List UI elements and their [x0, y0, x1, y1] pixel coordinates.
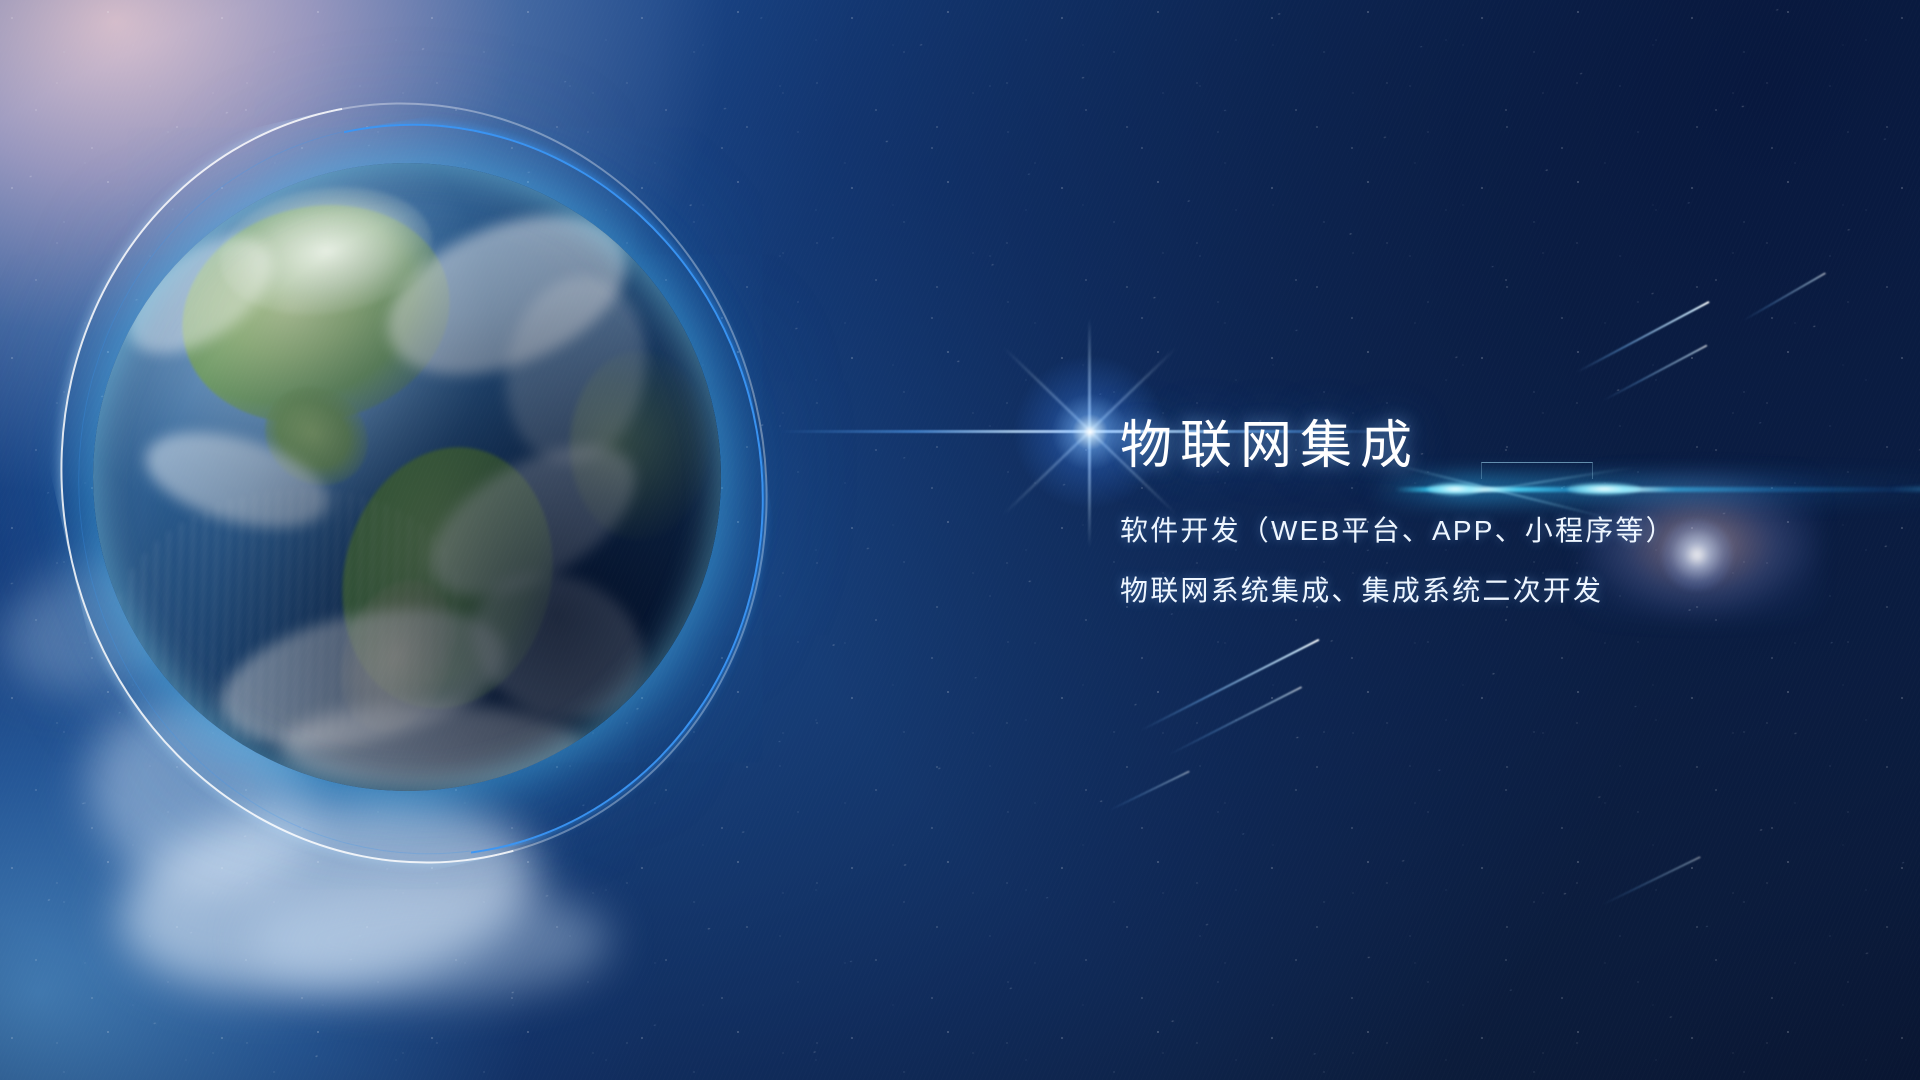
meteor-streak — [1168, 686, 1303, 756]
ice-mist-lower — [250, 880, 610, 1000]
flare-ray-vertical — [1088, 318, 1091, 548]
page-title: 物联网集成 — [1120, 420, 1840, 472]
earth-globe — [93, 163, 721, 791]
globe-sphere — [93, 163, 721, 791]
meteor-streak — [1602, 344, 1707, 401]
hero-text-block: 物联网集成 软件开发（WEB平台、APP、小程序等） 物联网系统集成、集成系统二… — [1120, 420, 1840, 605]
meteor-streak — [1601, 856, 1701, 906]
meteor-streak — [1576, 301, 1709, 373]
meteor-streak — [1108, 770, 1190, 811]
meteor-streak — [1140, 639, 1319, 732]
subtitle-line-2: 物联网系统集成、集成系统二次开发 — [1120, 577, 1840, 605]
banner-hero: 物联网集成 软件开发（WEB平台、APP、小程序等） 物联网系统集成、集成系统二… — [0, 0, 1920, 1080]
flare-beam-tail — [1893, 486, 1920, 492]
meteor-streak — [1742, 272, 1826, 322]
globe-rim-light — [93, 163, 721, 791]
subtitle-line-1: 软件开发（WEB平台、APP、小程序等） — [1120, 517, 1840, 545]
